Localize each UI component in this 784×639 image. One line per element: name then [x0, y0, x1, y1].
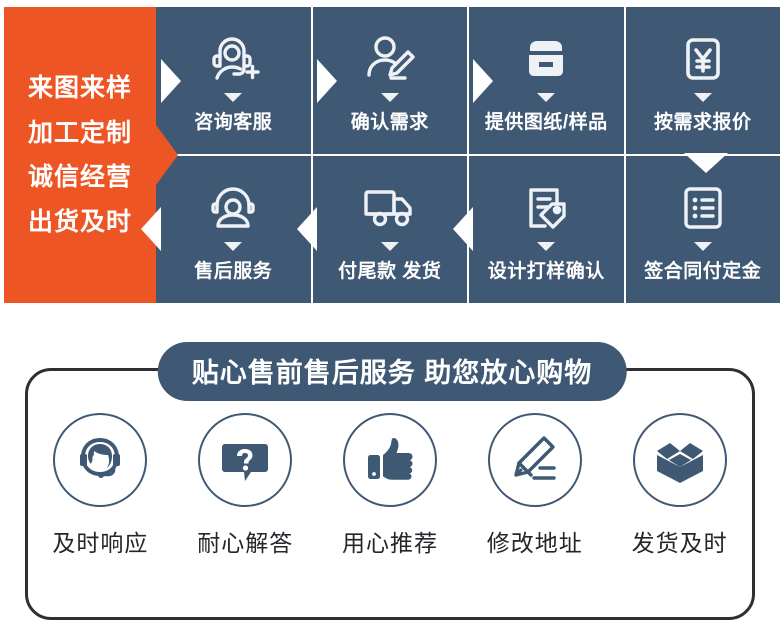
document-tag-icon — [515, 177, 577, 239]
headset-support-icon — [202, 177, 264, 239]
headset-person-add-icon — [202, 28, 264, 90]
connector-arrow-right-3 — [473, 59, 493, 103]
service-item-label: 用心推荐 — [342, 524, 438, 558]
service-item-response[interactable]: 及时响应 — [30, 413, 170, 558]
connector-arrow-right-1 — [161, 59, 181, 103]
question-bubble-icon — [198, 413, 292, 507]
service-item-recommend[interactable]: 用心推荐 — [320, 413, 460, 558]
connector-arrow-left-1 — [453, 207, 473, 251]
service-item-list: 及时响应 耐心解答 用心推荐 — [28, 413, 752, 558]
step-cell-contract[interactable]: 签合同付定金 — [626, 156, 781, 303]
step-label: 按需求报价 — [654, 107, 752, 134]
promo-arrow-icon — [156, 125, 178, 185]
step-caret-icon — [381, 93, 399, 102]
step-caret-icon — [694, 242, 712, 251]
service-item-answer[interactable]: 耐心解答 — [175, 413, 315, 558]
step-cell-aftersales[interactable]: 售后服务 — [156, 156, 311, 303]
step-label: 签合同付定金 — [644, 256, 761, 283]
service-item-dispatch[interactable]: 发货及时 — [610, 413, 750, 558]
promo-line-2: 加工定制 — [28, 111, 132, 156]
service-title-badge: 贴心售前售后服务 助您放心购物 — [158, 342, 627, 401]
promo-line-1: 来图来样 — [28, 66, 132, 111]
headset-agent-icon — [53, 413, 147, 507]
step-label: 设计打样确认 — [488, 256, 605, 283]
step-caret-icon — [224, 93, 242, 102]
connector-arrow-down — [684, 153, 728, 173]
step-label: 售后服务 — [194, 256, 272, 283]
person-pencil-icon — [359, 28, 421, 90]
promo-line-3: 诚信经营 — [28, 155, 132, 200]
pencil-edit-icon — [488, 413, 582, 507]
step-caret-icon — [537, 242, 555, 251]
service-item-label: 修改地址 — [487, 524, 583, 558]
service-card: 及时响应 耐心解答 用心推荐 — [25, 368, 755, 620]
step-label: 付尾款 发货 — [338, 256, 441, 283]
process-flow-section: 来图来样 加工定制 诚信经营 出货及时 咨询客服 — [4, 7, 780, 303]
yuan-price-tag-icon — [672, 28, 734, 90]
step-caret-icon — [694, 93, 712, 102]
promo-panel: 来图来样 加工定制 诚信经营 出货及时 — [4, 7, 156, 303]
step-label: 确认需求 — [351, 107, 429, 134]
box-container-icon — [515, 28, 577, 90]
step-cell-quote[interactable]: 按需求报价 — [626, 7, 781, 154]
step-caret-icon — [381, 242, 399, 251]
step-cell-shipping[interactable]: 付尾款 发货 — [313, 156, 468, 303]
delivery-truck-icon — [359, 177, 421, 239]
connector-arrow-left-3 — [141, 207, 161, 251]
checklist-icon — [672, 177, 734, 239]
step-caret-icon — [224, 242, 242, 251]
connector-arrow-right-2 — [317, 59, 337, 103]
step-caret-icon — [537, 93, 555, 102]
thumbs-up-icon — [343, 413, 437, 507]
step-label: 提供图纸/样品 — [485, 107, 608, 134]
service-item-address[interactable]: 修改地址 — [465, 413, 605, 558]
step-cell-proofing[interactable]: 设计打样确认 — [469, 156, 624, 303]
service-item-label: 耐心解答 — [197, 524, 293, 558]
step-label: 咨询客服 — [194, 107, 272, 134]
open-box-icon — [633, 413, 727, 507]
service-item-label: 及时响应 — [52, 524, 148, 558]
promo-line-4: 出货及时 — [28, 200, 132, 245]
service-item-label: 发货及时 — [632, 524, 728, 558]
connector-arrow-left-2 — [297, 207, 317, 251]
